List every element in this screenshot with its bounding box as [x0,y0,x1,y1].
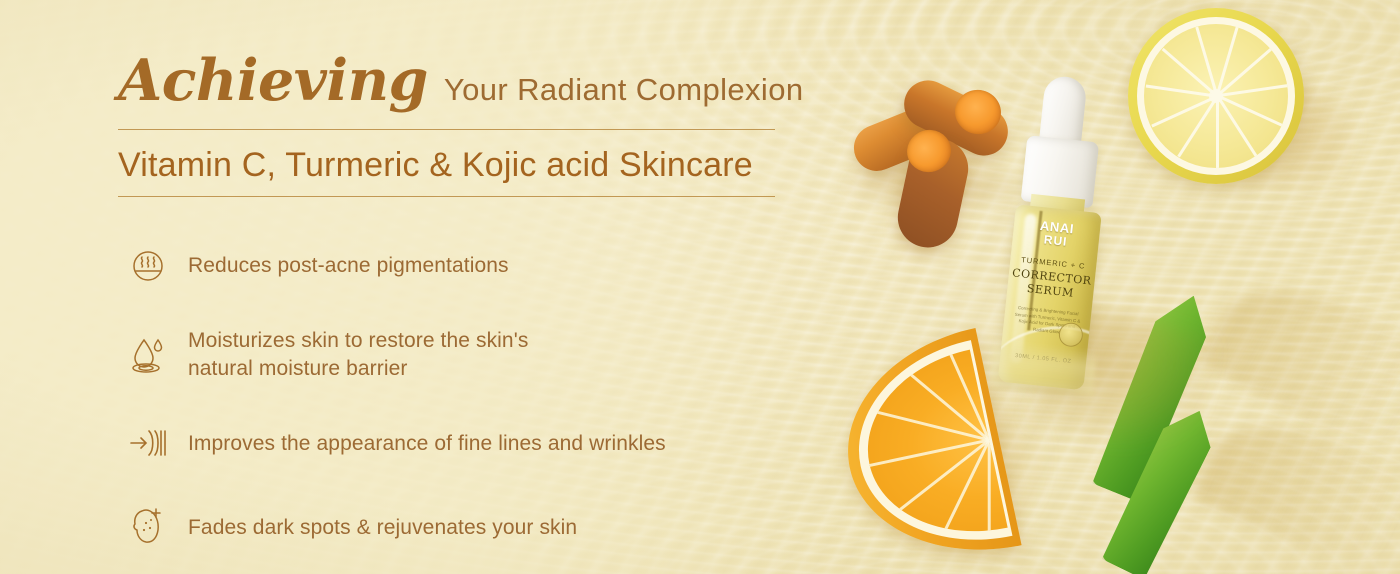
water-droplet-icon [120,332,176,378]
bottle-waterline [989,339,1097,396]
smoothing-arrow-icon [120,420,176,466]
lemon-segment-line [1216,96,1219,168]
quality-seal-icon [1058,322,1084,348]
serum-bottle: ANAI RUI TURMERIC + C CORRECTOR SERUM Co… [1005,78,1133,398]
feature-item: Reduces post-acne pigmentations [120,243,820,289]
feature-label: Fades dark spots & rejuvenates your skin [176,514,577,542]
turmeric-root [845,42,1025,222]
steam-circle-icon [120,243,176,289]
product-title: CORRECTOR SERUM [1007,266,1095,302]
feature-item: Fades dark spots & rejuvenates your skin [120,504,820,550]
feature-item: Improves the appearance of fine lines an… [120,420,820,466]
lemon-flesh [1144,24,1288,168]
subheadline: Vitamin C, Turmeric & Kojic acid Skincar… [118,148,818,182]
feature-label: Improves the appearance of fine lines an… [176,430,666,458]
brand-name: ANAI RUI [1012,216,1100,251]
divider-below-subheadline [118,196,775,197]
lemon-rind [1128,8,1304,184]
feature-label: Reduces post-acne pigmentations [176,252,509,280]
brand-line-2: RUI [1012,230,1099,252]
headline: Achieving Your Radiant Complexion [118,52,818,109]
lemon-half [1128,8,1304,184]
feature-list: Reduces post-acne pigmentations Moisturi… [120,243,820,550]
headline-remainder: Your Radiant Complexion [444,74,804,105]
lemon-core [1209,89,1223,103]
feature-item: Moisturizes skin to restore the skin's n… [120,327,820,382]
divider-above-subheadline [118,129,775,130]
headline-script-word: Achieving [118,52,428,109]
face-dark-spots-icon [120,504,176,550]
feature-label: Moisturizes skin to restore the skin's n… [176,327,528,382]
product-promo-banner: Achieving Your Radiant Complexion Vitami… [0,0,1400,574]
headline-block: Achieving Your Radiant Complexion Vitami… [118,52,818,197]
